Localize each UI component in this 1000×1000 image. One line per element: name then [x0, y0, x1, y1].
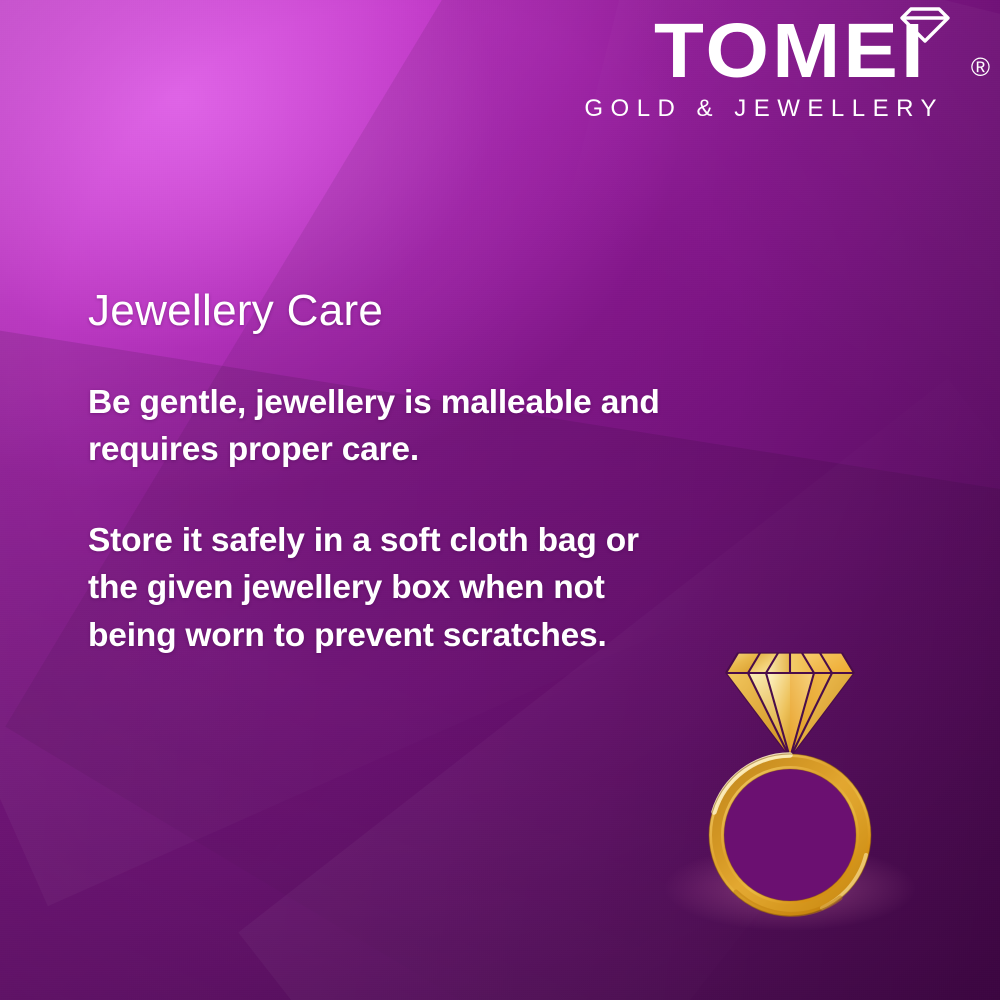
body-paragraph: Be gentle, jewellery is malleable and re…	[88, 379, 688, 473]
ring-band-icon	[709, 754, 871, 916]
poster-canvas: TOMEI ® GOLD & JEWELLERY Jewellery Care …	[0, 0, 1000, 1000]
diamond-outline-icon	[898, 5, 952, 45]
body-paragraph: Store it safely in a soft cloth bag or t…	[88, 517, 688, 659]
diamond-ring-illustration	[690, 640, 890, 920]
brand-wordmark: TOMEI	[654, 14, 927, 89]
page-title: Jewellery Care	[88, 288, 688, 335]
brand-tagline: GOLD & JEWELLERY	[584, 95, 944, 123]
brand-logo: TOMEI ® GOLD & JEWELLERY	[584, 14, 982, 123]
diamond-gem-icon	[726, 653, 854, 758]
copy-block: Jewellery Care Be gentle, jewellery is m…	[88, 288, 688, 659]
brand-wordmark-row: TOMEI ®	[584, 14, 982, 89]
registered-trademark-icon: ®	[971, 52, 990, 83]
